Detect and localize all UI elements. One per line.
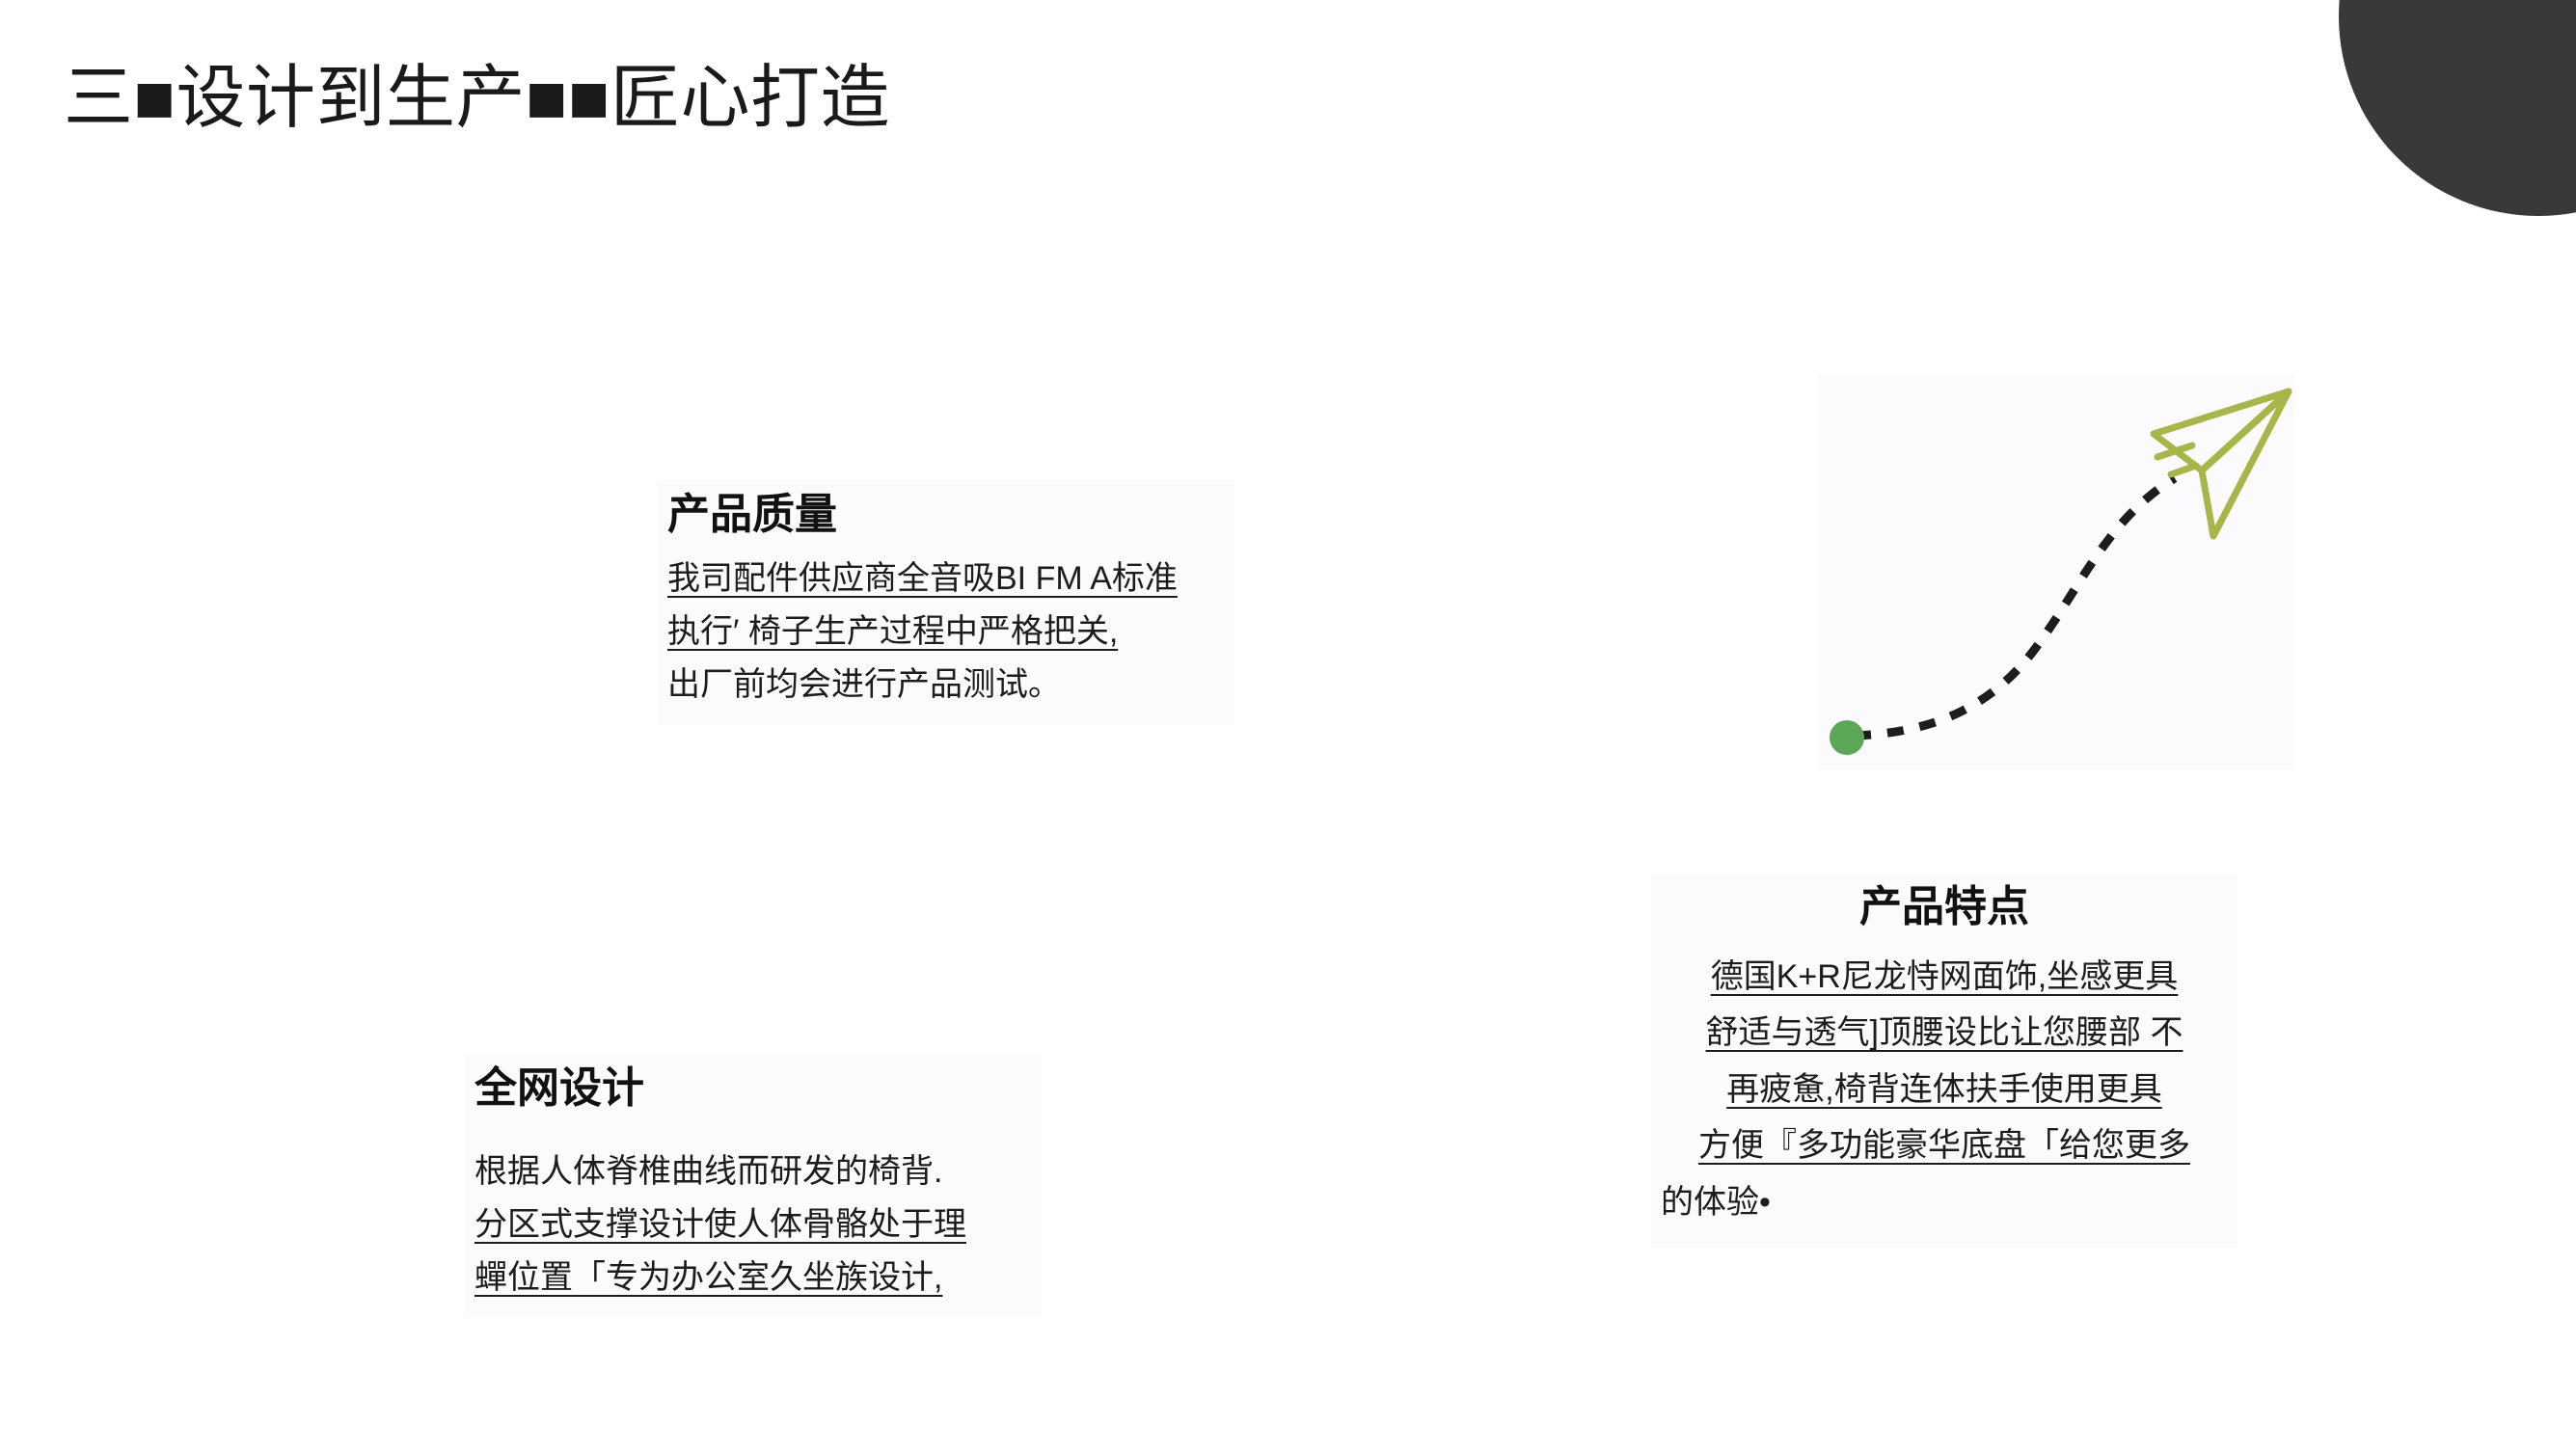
block-body-features: 德国K+R尼龙恃网面饰,坐感更具 舒适与透气]顶腰设比让您腰部 不 再疲惫,椅背… bbox=[1661, 949, 2228, 1230]
body-line: 的体验• bbox=[1661, 1174, 2228, 1230]
block-body-quality: 我司配件供应商全音吸BI FM A标准 执行′ 椅子生产过程中严格把关, 出厂前… bbox=[667, 552, 1225, 712]
page-title: 三■设计到生产■■匠心打造 bbox=[64, 60, 890, 138]
plane-trail-path bbox=[1855, 478, 2175, 736]
text-block-quality: 产品质量 我司配件供应商全音吸BI FM A标准 执行′ 椅子生产过程中严格把关… bbox=[658, 480, 1234, 725]
dark-circle-decoration bbox=[2339, 0, 2576, 216]
body-line: 根据人体脊椎曲线而研发的椅背. bbox=[475, 1145, 1032, 1198]
body-line: 分区式支撑设计使人体骨骼处于理 bbox=[475, 1198, 1032, 1251]
body-line: 舒适与透气]顶腰设比让您腰部 不 bbox=[1661, 1005, 2228, 1061]
paper-plane-illustration bbox=[1818, 374, 2294, 769]
text-block-design: 全网设计 根据人体脊椎曲线而研发的椅背. 分区式支撑设计使人体骨骼处于理 蟬位置… bbox=[465, 1054, 1042, 1318]
slide-canvas: 三■设计到生产■■匠心打造 产品质量 我司配件供应商全音吸BI FM A标准 执… bbox=[0, 0, 2576, 1453]
block-heading-design: 全网设计 bbox=[475, 1062, 1032, 1115]
text-block-features: 产品特点 德国K+R尼龙恃网面饰,坐感更具 舒适与透气]顶腰设比让您腰部 不 再… bbox=[1651, 873, 2237, 1248]
body-line: 蟬位置「专为办公室久坐族设计, bbox=[475, 1251, 1032, 1305]
block-body-design: 根据人体脊椎曲线而研发的椅背. 分区式支撑设计使人体骨骼处于理 蟬位置「专为办公… bbox=[475, 1145, 1032, 1305]
plane-start-dot bbox=[1830, 720, 1864, 755]
body-line: 方便『多功能豪华底盘「给您更多 bbox=[1661, 1117, 2228, 1173]
block-heading-quality: 产品质量 bbox=[667, 488, 1225, 541]
block-heading-features: 产品特点 bbox=[1661, 880, 2228, 933]
body-line: 出厂前均会进行产品测试。 bbox=[667, 659, 1225, 712]
paper-plane-icon bbox=[2154, 391, 2289, 536]
body-line: 德国K+R尼龙恃网面饰,坐感更具 bbox=[1661, 949, 2228, 1005]
body-line: 执行′ 椅子生产过程中严格把关, bbox=[667, 605, 1225, 659]
body-line: 我司配件供应商全音吸BI FM A标准 bbox=[667, 552, 1225, 605]
body-line: 再疲惫,椅背连体扶手使用更具 bbox=[1661, 1062, 2228, 1117]
